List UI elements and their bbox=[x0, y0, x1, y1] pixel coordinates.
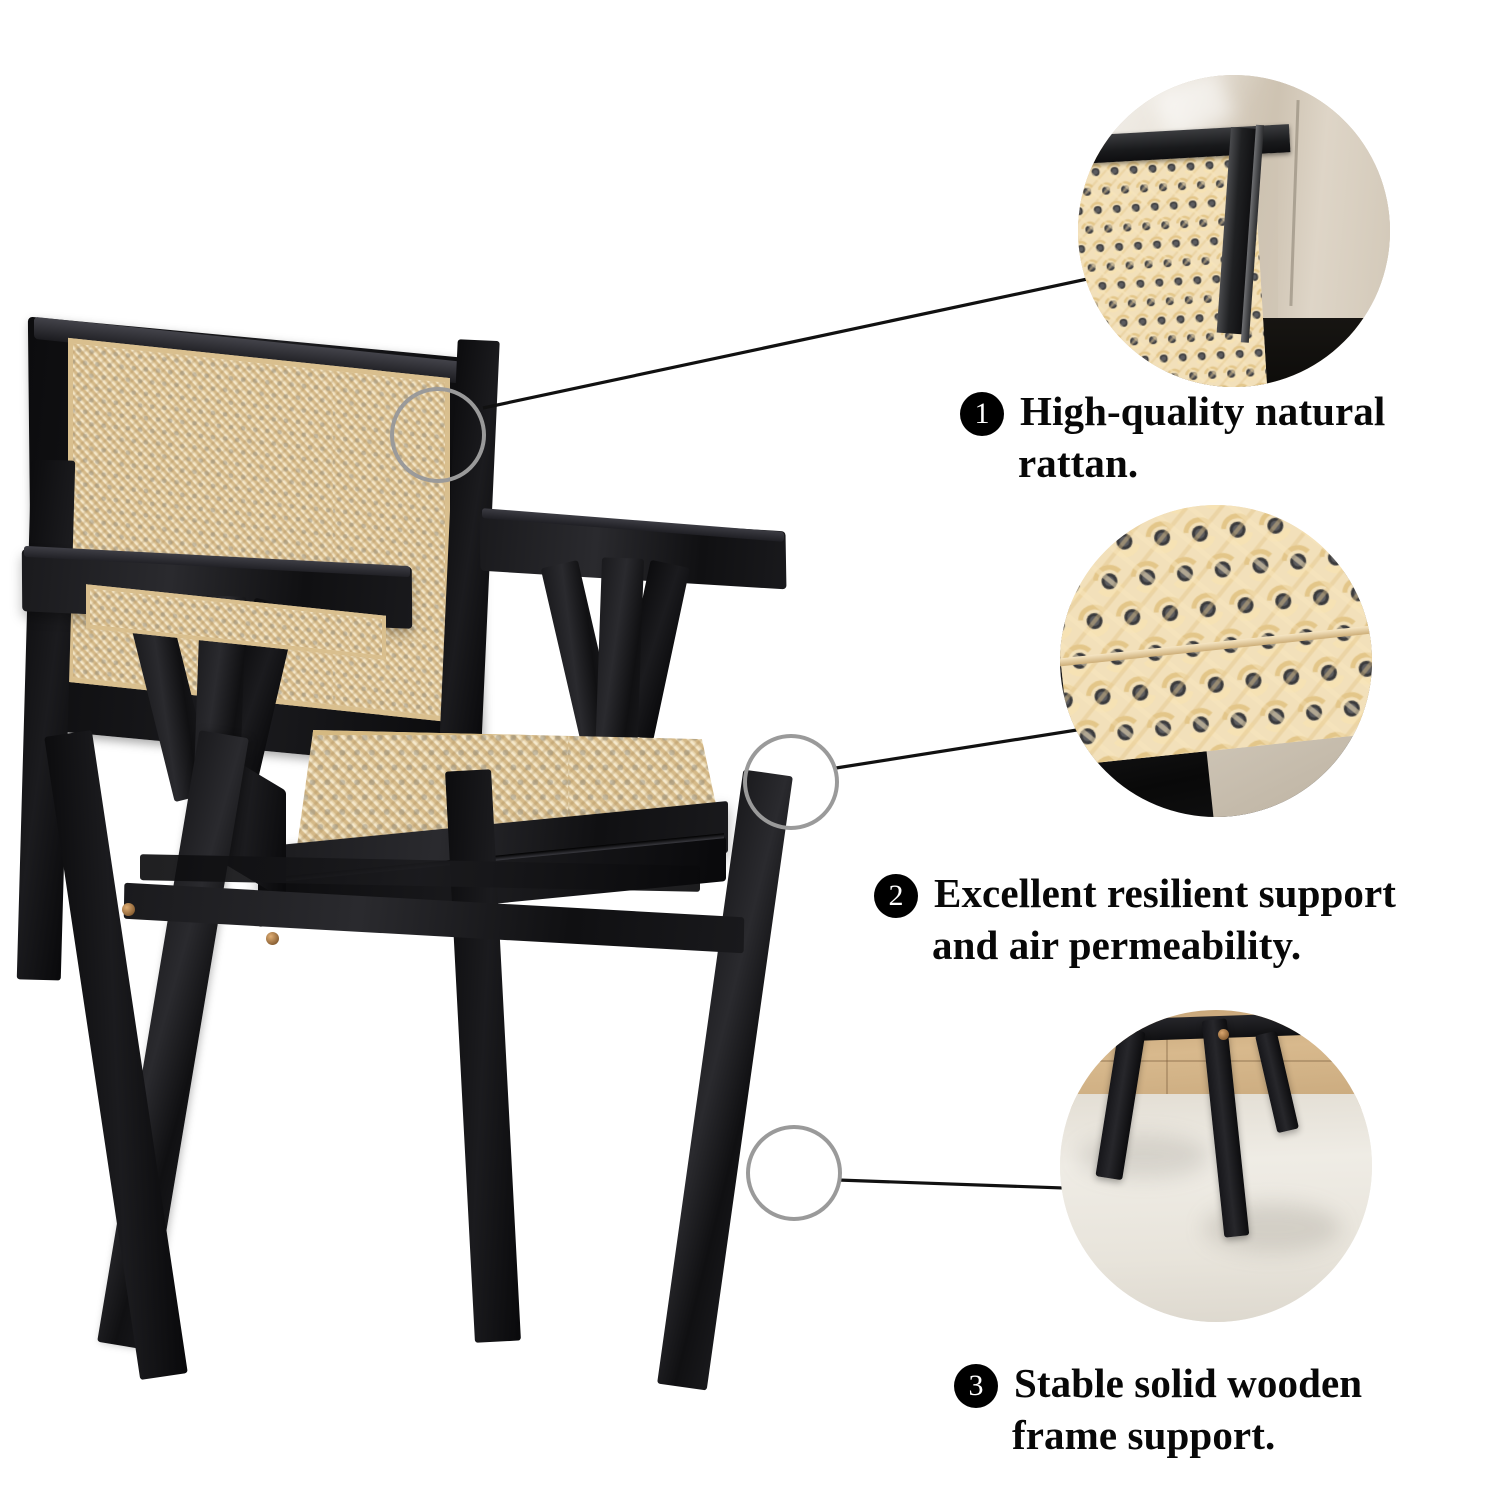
callout-2-line1: Excellent resilient support bbox=[934, 870, 1396, 916]
callout-1-text: High-quality natural rattan. bbox=[1020, 386, 1385, 489]
callout-1: 1 High-quality natural rattan. bbox=[960, 386, 1490, 489]
callout-1-badge: 1 bbox=[960, 392, 1004, 436]
callout-3: 3 Stable solid wooden frame support. bbox=[954, 1358, 1494, 1461]
chair-rear-upright-left bbox=[17, 459, 76, 980]
detail-circle-cane-weave-seat bbox=[1060, 505, 1372, 817]
chair-screw-upper-left bbox=[122, 903, 135, 916]
callout-3-badge: 3 bbox=[954, 1364, 998, 1408]
callout-2: 2 Excellent resilient support and air pe… bbox=[874, 868, 1490, 971]
detail-circle-rattan-back-corner bbox=[1078, 75, 1390, 387]
chair-screw-lower-left bbox=[266, 932, 279, 945]
detail-circle-wooden-legs bbox=[1060, 1010, 1372, 1322]
callout-3-line2: frame support. bbox=[1012, 1410, 1362, 1462]
callout-2-badge: 2 bbox=[874, 874, 918, 918]
callout-2-text: Excellent resilient support and air perm… bbox=[934, 868, 1396, 971]
callout-2-line2: and air permeability. bbox=[932, 920, 1396, 972]
callout-1-line1: High-quality natural bbox=[1020, 388, 1385, 434]
main-product-image bbox=[0, 300, 900, 1360]
infographic-canvas: 1 High-quality natural rattan. 2 Excelle… bbox=[0, 0, 1500, 1500]
callout-1-line2: rattan. bbox=[1018, 438, 1385, 490]
callout-3-text: Stable solid wooden frame support. bbox=[1014, 1358, 1362, 1461]
callout-3-line1: Stable solid wooden bbox=[1014, 1360, 1362, 1406]
